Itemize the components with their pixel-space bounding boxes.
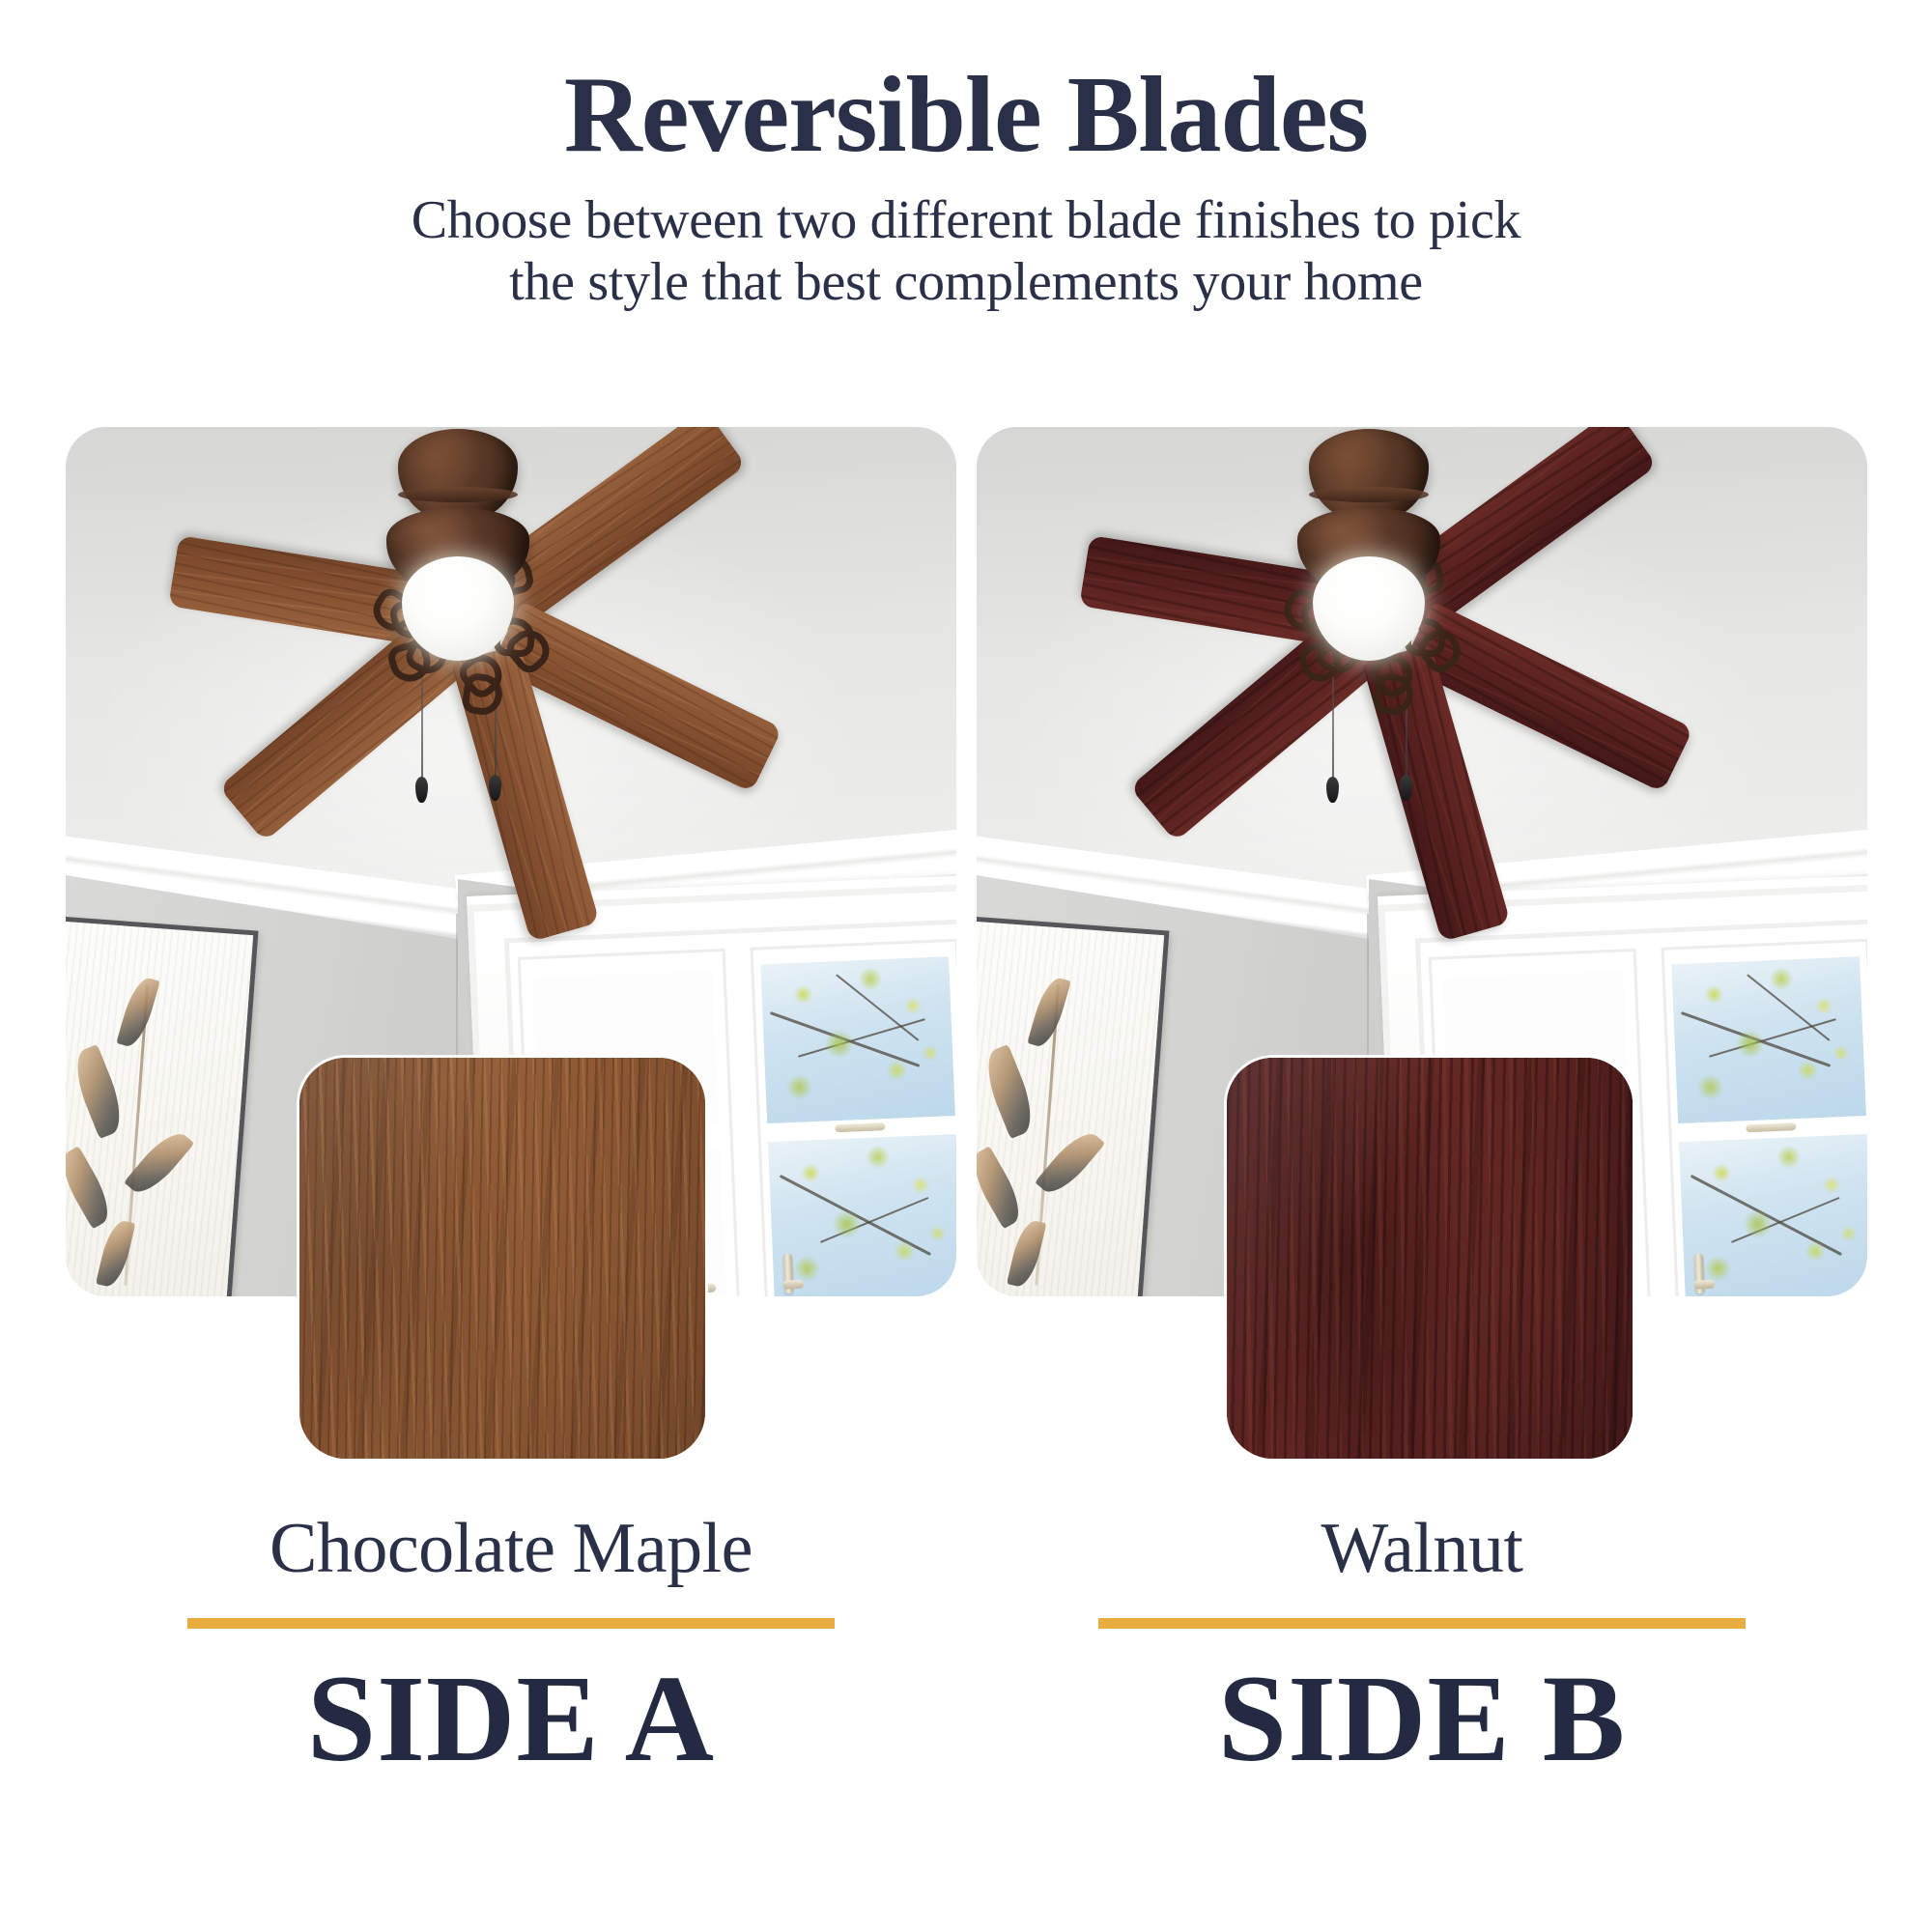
pull-chain-knob [1326,777,1339,803]
infographic-page: Reversible Blades Choose between two dif… [0,0,1932,1932]
window-latch [835,1122,885,1132]
caption-side-a: Chocolate Maple SIDE A [66,1512,956,1781]
foliage [768,1134,956,1296]
framed-botanical-art [977,915,1170,1296]
pull-chain [421,665,423,779]
foliage [1671,956,1866,1124]
subtitle-line-2: the style that best complements your hom… [0,252,1932,314]
fan-motor-housing [379,429,537,574]
side-label-a: SIDE A [66,1656,956,1782]
header: Reversible Blades Choose between two dif… [0,58,1932,313]
motor-ring [398,487,518,502]
window-pane [1671,956,1866,1124]
pull-chain-knob [1400,775,1412,801]
chocolate-maple-wood-swatch [299,1058,705,1459]
pull-chain-knob [415,777,428,803]
window-pane [768,1134,956,1296]
framed-botanical-art [66,915,259,1296]
window-handle [783,1253,794,1293]
window-pane [1679,1134,1867,1296]
gold-divider-side-a [187,1618,835,1629]
gold-divider-side-b [1098,1618,1746,1629]
subtitle-line-1: Choose between two different blade finis… [0,190,1932,252]
motor-ring [1309,487,1429,502]
window-handle [1694,1253,1705,1293]
wood-sheen [1227,1058,1633,1459]
window-pane [760,956,955,1124]
pull-chain [1332,665,1334,779]
ceiling-fan-side-a [458,618,459,619]
wood-sheen [299,1058,705,1459]
page-subtitle: Choose between two different blade finis… [0,190,1932,314]
panel-side-a [66,427,956,1296]
fan-motor-housing [1290,429,1448,574]
ceiling-fan-side-b [1369,618,1370,619]
window-sash-right [744,933,956,1296]
window-sash-right [1655,933,1867,1296]
foliage [760,956,955,1124]
walnut-wood-swatch [1227,1058,1633,1459]
window-latch [1746,1122,1796,1132]
page-title: Reversible Blades [0,58,1932,173]
caption-side-b: Walnut SIDE B [977,1512,1867,1781]
foliage [1679,1134,1867,1296]
panel-side-b [977,427,1867,1296]
side-label-b: SIDE B [977,1656,1867,1782]
pull-chain-knob [489,775,501,801]
finish-name-side-b: Walnut [977,1512,1867,1587]
finish-name-side-a: Chocolate Maple [66,1512,956,1587]
